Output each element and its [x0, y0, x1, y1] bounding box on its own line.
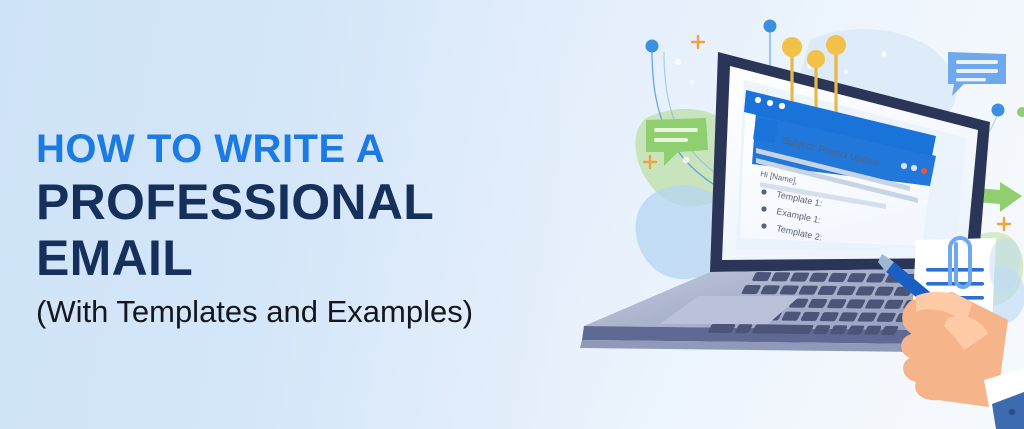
- bullet-dot-3: [761, 223, 766, 228]
- sender-avatar: [753, 118, 778, 143]
- headline-subtitle: (With Templates and Examples): [36, 292, 556, 332]
- headline-block: HOW TO WRITE A PROFESSIONAL EMAIL (With …: [36, 126, 556, 332]
- headline-line-1: HOW TO WRITE A: [36, 126, 556, 172]
- minimize-dot: [901, 163, 907, 169]
- headline-line-3: EMAIL: [36, 230, 556, 286]
- node-dot-top: [764, 20, 777, 33]
- laptop-email-illustration: Subject: Project Update Hi [Name], Templ…: [560, 0, 1024, 429]
- bullet-dot-1: [761, 189, 766, 194]
- article-banner: HOW TO WRITE A PROFESSIONAL EMAIL (With …: [0, 0, 1024, 429]
- close-dot: [921, 168, 927, 174]
- cuff-button: [1009, 409, 1016, 416]
- node-dot-right: [992, 104, 1005, 117]
- maximize-dot: [911, 165, 917, 171]
- headline-line-2: PROFESSIONAL: [36, 174, 556, 230]
- node-dot-left: [646, 40, 659, 53]
- bullet-dot-2: [761, 206, 766, 211]
